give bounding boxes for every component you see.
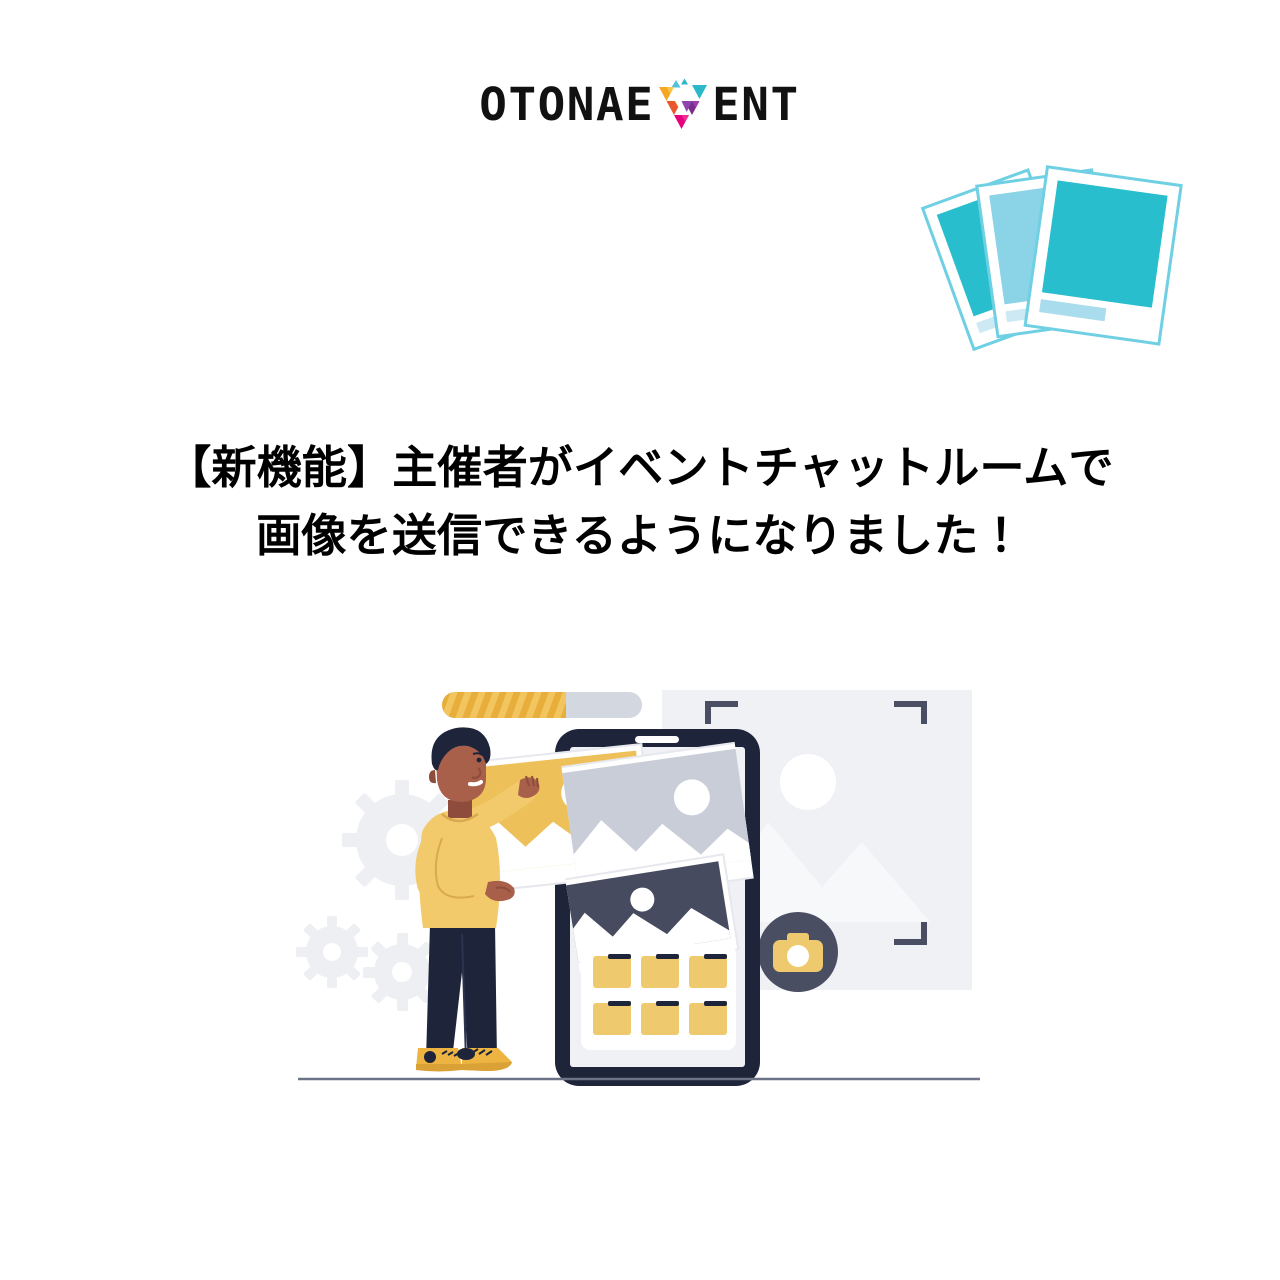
phone-speaker bbox=[635, 736, 679, 743]
camera-badge-icon[interactable] bbox=[758, 912, 838, 992]
main-illustration bbox=[290, 672, 990, 1092]
person-shoes bbox=[416, 1048, 512, 1072]
folder-item bbox=[641, 1001, 679, 1035]
photo-frame-front bbox=[1025, 167, 1181, 344]
folder-item bbox=[689, 954, 727, 988]
polaroid-photo-stack bbox=[905, 150, 1195, 365]
logo-text-right: ENT bbox=[713, 82, 800, 127]
poster-canvas: OTONAE bbox=[0, 0, 1280, 1280]
folder-item bbox=[593, 954, 631, 988]
upload-progress-bar bbox=[442, 692, 642, 718]
sun-shape bbox=[780, 754, 836, 810]
folder-item bbox=[689, 1001, 727, 1035]
folder-grid[interactable] bbox=[581, 944, 736, 1050]
folder-item bbox=[593, 1001, 631, 1035]
v-triangle-logo-mark bbox=[654, 78, 712, 130]
brand-logo[interactable]: OTONAE bbox=[0, 78, 1280, 130]
page-title: 【新機能】主催者がイベントチャットルームで 画像を送信できるようになりました！ bbox=[0, 434, 1280, 570]
folder-item bbox=[641, 954, 679, 988]
logo-text-left: OTONAE bbox=[479, 82, 654, 127]
